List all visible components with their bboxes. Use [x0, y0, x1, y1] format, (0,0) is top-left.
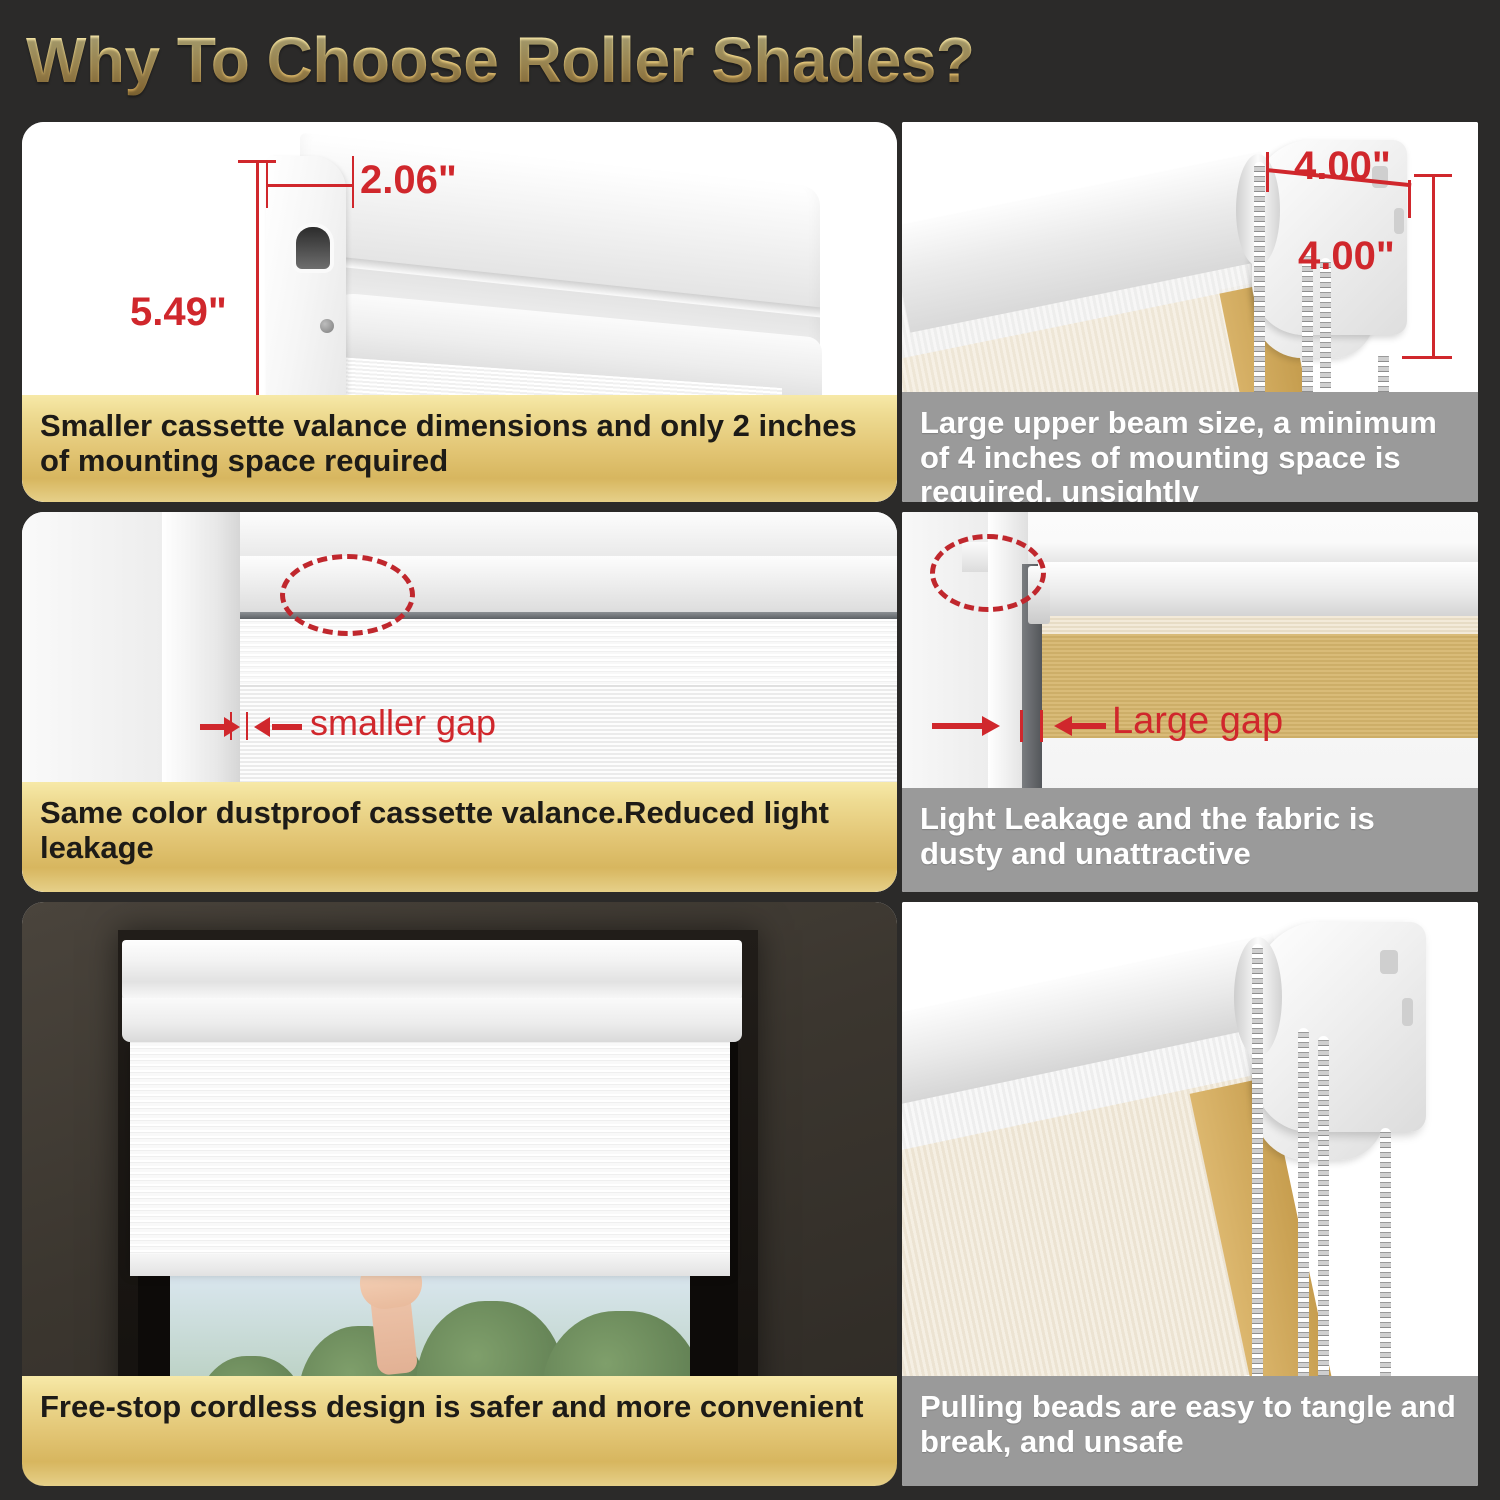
gap-arrow-shaft-left: [200, 724, 226, 730]
dim-tick-bottom-2: [1402, 356, 1452, 359]
smaller-gap-label: smaller gap: [310, 702, 496, 744]
panel-1-caption: Smaller cassette valance dimensions and …: [22, 395, 897, 502]
panel-cordless-design: Free-stop cordless design is safer and m…: [22, 902, 897, 1486]
shade-roll: [122, 998, 742, 1042]
bracket-notch-2: [1394, 208, 1404, 234]
tangle-bead-chain-1: [1252, 944, 1263, 1384]
shade-bottom-rail: [130, 1254, 730, 1276]
panel-3-caption: Same color dustproof cassette valance.Re…: [22, 782, 897, 892]
end-cap-slot: [296, 227, 330, 269]
gap-edge-right: [246, 712, 248, 740]
bead-bracket-notch-2: [1402, 998, 1413, 1026]
dimension-height-label-2: 4.00": [1298, 234, 1395, 279]
bead-chain-1: [1254, 162, 1265, 420]
gap-arrow-shaft-left-2: [932, 723, 986, 729]
gap-arrow-head-left: [224, 717, 240, 737]
panel-2-caption: Large upper beam size, a minimum of 4 in…: [902, 392, 1478, 502]
gap-arrow-shaft-right-2: [1072, 723, 1106, 729]
dimension-width-label-2: 4.00": [1294, 144, 1391, 189]
comparison-grid: 2.06" 5.49" Smaller cassette valance dim…: [0, 108, 1500, 1498]
dim-tick-top-2: [1414, 174, 1452, 177]
lowered-shade-fabric: [130, 1040, 730, 1268]
panel-4-caption: Light Leakage and the fabric is dusty an…: [902, 788, 1478, 892]
panel-smaller-cassette: 2.06" 5.49" Smaller cassette valance dim…: [22, 122, 897, 502]
panel-smaller-gap: smaller gap Same color dustproof cassett…: [22, 512, 897, 892]
dim-tick-right: [352, 156, 354, 208]
gap-edge-right-2: [1040, 710, 1043, 742]
highlight-ellipse-2: [930, 534, 1046, 612]
exposed-roller-tube: [1038, 562, 1478, 616]
dimension-width-label: 2.06": [360, 158, 457, 203]
tangle-bead-chain-2: [1298, 1028, 1309, 1384]
gap-edge-left-2: [1020, 710, 1023, 742]
gap-arrow-head-left-2: [982, 716, 1000, 736]
panel-5-caption: Free-stop cordless design is safer and m…: [22, 1376, 897, 1486]
gap-arrow-head-right-2: [1054, 716, 1072, 736]
tangle-bead-chain-4: [1380, 1128, 1391, 1384]
room-cassette-valance: [122, 940, 742, 998]
page-header: Why To Choose Roller Shades?: [26, 14, 1466, 106]
bead-bracket-notch-1: [1380, 950, 1398, 974]
gap-arrow-shaft-right: [272, 724, 302, 730]
page-title: Why To Choose Roller Shades?: [26, 23, 974, 97]
tangle-bead-chain-3: [1318, 1036, 1329, 1384]
bead-bracket-upper: [1254, 922, 1426, 1132]
panel-large-gap: Large gap Light Leakage and the fabric i…: [902, 512, 1478, 892]
dim-line-width: [268, 184, 354, 187]
dimension-height-label: 5.49": [130, 290, 227, 335]
panel-large-beam: 4.00" 4.00" Large upper beam size, a min…: [902, 122, 1478, 502]
panel-pulling-beads: Pulling beads are easy to tangle and bre…: [902, 902, 1478, 1486]
gap-arrow-head-right: [254, 717, 270, 737]
end-cap-screw-upper: [320, 319, 334, 333]
dim-line-height-2: [1432, 174, 1435, 358]
dim-tick-top: [238, 160, 276, 163]
large-gap-label: Large gap: [1112, 700, 1283, 743]
highlight-ellipse: [280, 554, 415, 636]
panel-6-caption: Pulling beads are easy to tangle and bre…: [902, 1376, 1478, 1486]
